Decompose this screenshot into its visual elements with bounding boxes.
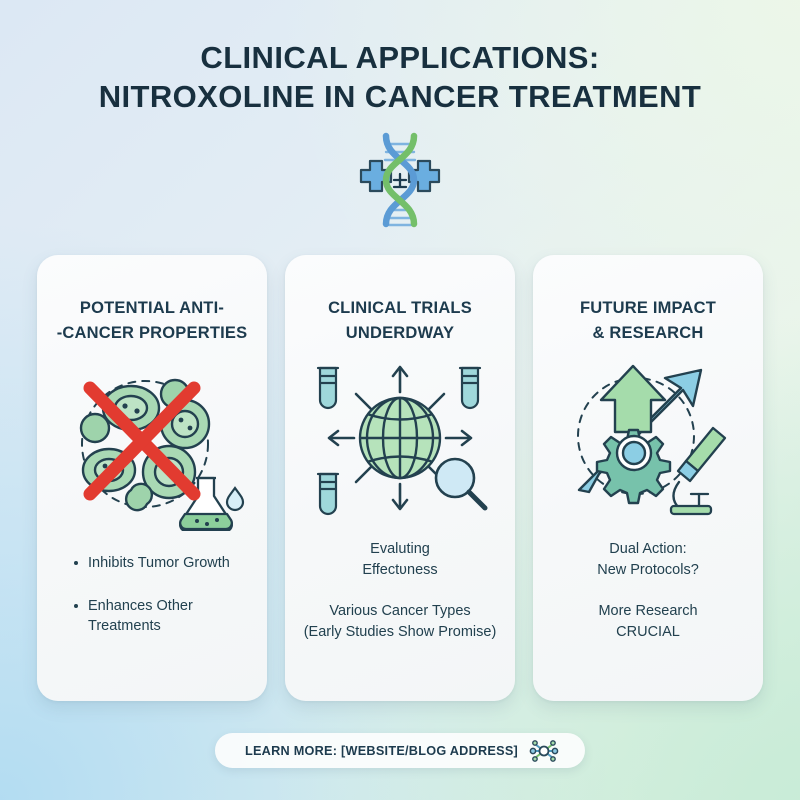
card-body: Evaluting Effectʋness Various Cancer Typ… bbox=[298, 539, 502, 643]
list-item: Enhances Other Treatments bbox=[74, 596, 254, 636]
molecule-icon bbox=[529, 738, 559, 764]
globe-with-arrows-test-tubes-magnifier-illustration bbox=[305, 356, 495, 521]
cards-row: Potential Anti- -Cancer Properties bbox=[37, 255, 763, 701]
card-potential-anti-cancer-properties[interactable]: Potential Anti- -Cancer Properties bbox=[37, 255, 267, 701]
card-heading: Future Impact & Research bbox=[580, 296, 716, 346]
card-heading: Potential Anti- -Cancer Properties bbox=[57, 296, 248, 346]
cancer-cells-crossed-out-with-flask-illustration bbox=[57, 366, 247, 531]
title-line-1: Clinical Applications: bbox=[0, 38, 800, 77]
body-paragraph: More Research CRUCIAL bbox=[546, 601, 750, 643]
body-paragraph: Dual Action: New Protocols? bbox=[546, 539, 750, 581]
page-title: Clinical Applications: Nitroxoline in Ca… bbox=[0, 38, 800, 116]
body-paragraph: Various Cancer Types (Early Studies Show… bbox=[298, 601, 502, 643]
dna-helix-with-medical-crosses-icon bbox=[348, 132, 452, 228]
infographic-canvas: Clinical Applications: Nitroxoline in Ca… bbox=[0, 0, 800, 800]
body-paragraph: Evaluting Effectʋness bbox=[298, 539, 502, 581]
learn-more-footer[interactable]: Learn more: [Website/Blog Address] bbox=[215, 733, 585, 768]
card-body: Inhibits Tumor Growth Enhances Other Tre… bbox=[50, 553, 254, 636]
bullet-list: Inhibits Tumor Growth Enhances Other Tre… bbox=[50, 553, 254, 636]
card-heading: Clinical Trials Underdway bbox=[328, 296, 472, 346]
title-line-2: Nitroxoline in Cancer Treatment bbox=[0, 77, 800, 116]
growth-arrows-gear-microscope-illustration bbox=[553, 356, 743, 521]
card-clinical-trials-underway[interactable]: Clinical Trials Underdway bbox=[285, 255, 515, 701]
footer-label: Learn more: [Website/Blog Address] bbox=[245, 744, 518, 758]
card-body: Dual Action: New Protocols? More Researc… bbox=[546, 539, 750, 643]
list-item: Inhibits Tumor Growth bbox=[74, 553, 254, 573]
card-future-impact-and-research[interactable]: Future Impact & Research bbox=[533, 255, 763, 701]
